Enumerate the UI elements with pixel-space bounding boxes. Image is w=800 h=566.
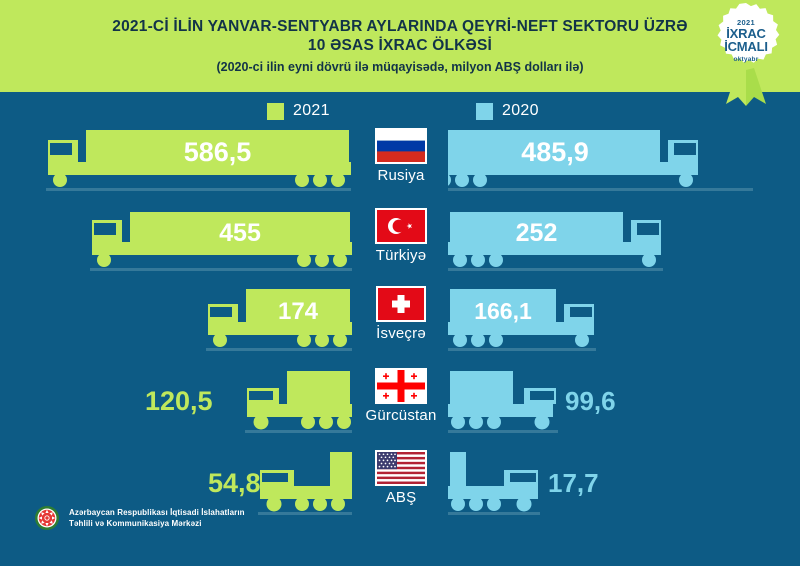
badge-text-block: 2021 İXRAC İCMALI oktyabr (708, 2, 784, 78)
table-row: 120,5 (0, 368, 800, 450)
page-title-line2: 10 ƏSAS İXRAC ÖLKƏSİ (308, 36, 492, 55)
georgia-flag-icon (377, 370, 425, 402)
country-label: İsveçrə (376, 325, 426, 342)
table-row: 174 166,1 (0, 286, 800, 368)
legend-swatch-2020 (476, 103, 493, 120)
page-subtitle: (2020-ci ilin eyni dövrü ilə müqayisədə,… (216, 58, 583, 76)
legend-item-2021: 2021 (267, 102, 330, 120)
country-cell: Rusiya (355, 130, 447, 184)
infographic-page: 2021-Cİ İLİN YANVAR-SENTYABR AYLARINDA Q… (0, 0, 800, 566)
turkey-flag-icon (377, 210, 425, 242)
legend-swatch-2021 (267, 103, 284, 120)
country-cell: Gürcüstan (355, 370, 447, 424)
value-2021: 120,5 (145, 384, 213, 418)
truck-2021 (245, 368, 352, 434)
legend-label-2021: 2021 (293, 102, 330, 120)
usa-flag-icon (377, 452, 425, 484)
value-2021: 54,8 (208, 466, 261, 500)
russia-flag-icon (377, 130, 425, 162)
truck-right-icon (448, 450, 540, 516)
truck-left-icon (258, 450, 352, 516)
truck-2021 (258, 450, 352, 516)
country-label: ABŞ (386, 489, 417, 506)
table-row: 455 252 (0, 206, 800, 286)
country-cell: ABŞ (355, 452, 447, 506)
switzerland-flag-icon (378, 288, 424, 320)
footer-org-line1: Azərbaycan Respublikası İqtisadi İslahat… (69, 507, 245, 518)
legend-item-2020: 2020 (476, 102, 539, 120)
footer-org-text: Azərbaycan Respublikası İqtisadi İslahat… (69, 507, 245, 529)
value-2020: 485,9 (449, 130, 661, 174)
value-2020: 99,6 (565, 384, 616, 418)
country-label: Türkiyə (376, 247, 427, 264)
truck-right-icon (448, 368, 558, 434)
legend-label-2020: 2020 (502, 102, 539, 120)
truck-left-icon (245, 368, 352, 434)
header-banner: 2021-Cİ İLİN YANVAR-SENTYABR AYLARINDA Q… (0, 0, 800, 92)
country-cell: İsveçrə (355, 288, 447, 342)
footer-org-line2: Təhlili və Kommunikasiya Mərkəzi (69, 518, 245, 529)
value-2020: 252 (450, 212, 623, 254)
export-review-badge: 2021 İXRAC İCMALI oktyabr (708, 2, 784, 106)
table-row: 586,5 485,9 (0, 126, 800, 206)
chart-legend: 2021 2020 (0, 100, 800, 126)
badge-month: oktyabr (734, 56, 759, 63)
value-2021: 586,5 (86, 130, 349, 174)
country-label: Rusiya (377, 167, 424, 184)
page-title-line1: 2021-Cİ İLİN YANVAR-SENTYABR AYLARINDA Q… (112, 17, 687, 36)
value-2021: 174 (246, 289, 350, 334)
badge-line1: İXRAC (726, 27, 765, 41)
truck-2020 (448, 450, 540, 516)
badge-line2: İCMALI (724, 40, 768, 54)
azerbaijan-emblem-icon (34, 505, 60, 531)
country-label: Gürcüstan (366, 407, 437, 424)
country-cell: Türkiyə (355, 210, 447, 264)
value-2021: 455 (130, 212, 350, 254)
chart-rows: 586,5 485,9 (0, 126, 800, 530)
value-2020: 17,7 (548, 466, 599, 500)
value-2020: 166,1 (450, 289, 556, 334)
footer-credit: Azərbaycan Respublikası İqtisadi İslahat… (34, 505, 245, 531)
truck-2020 (448, 368, 558, 434)
